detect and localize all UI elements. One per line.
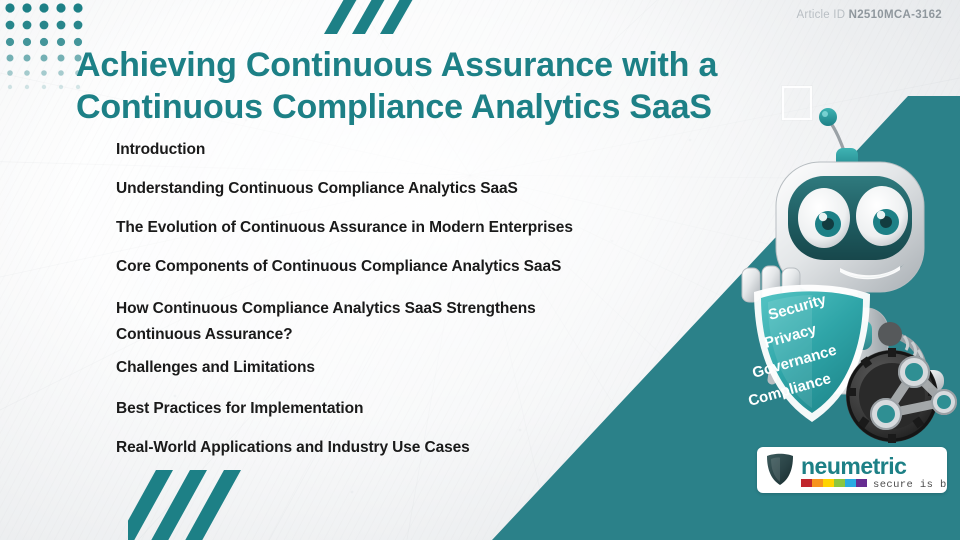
list-item[interactable]: Real-World Applications and Industry Use… xyxy=(116,438,716,458)
title-line-2: Continuous Compliance Analytics SaaS xyxy=(76,86,796,128)
logo-color-bar xyxy=(801,479,867,487)
table-of-contents: Introduction Understanding Continuous Co… xyxy=(116,140,716,477)
article-id-label: Article ID xyxy=(797,9,846,21)
list-item[interactable]: Core Components of Continuous Compliance… xyxy=(116,257,716,277)
list-item[interactable]: How Continuous Compliance Analytics SaaS… xyxy=(116,296,716,348)
shield-logo-icon xyxy=(767,454,793,485)
list-item[interactable]: Introduction xyxy=(116,140,716,160)
list-item[interactable]: Understanding Continuous Compliance Anal… xyxy=(116,179,716,199)
robot-wheel-icon xyxy=(846,348,956,443)
title-line-1: Achieving Continuous Assurance with a xyxy=(76,46,717,84)
page-title: Achieving Continuous Assurance with a Co… xyxy=(76,44,796,128)
article-id-code: N2510MCA-3162 xyxy=(849,9,942,21)
logo-wordmark: neumetric xyxy=(801,453,907,479)
logo-tagline: secure is better xyxy=(873,479,947,491)
neumetric-logo[interactable]: neumetric secure is better xyxy=(757,447,947,493)
list-item[interactable]: The Evolution of Continuous Assurance in… xyxy=(116,218,716,238)
diagonal-stripes-top-icon xyxy=(322,0,438,40)
list-item[interactable]: Challenges and Limitations xyxy=(116,358,716,378)
robot-mascot-icon: Security Privacy Governance Compliance xyxy=(718,96,960,456)
presentation-slide: Article ID N2510MCA-3162 Achieving Conti… xyxy=(0,0,960,540)
article-id: Article ID N2510MCA-3162 xyxy=(797,9,942,21)
list-item[interactable]: Best Practices for Implementation xyxy=(116,399,716,419)
diagonal-stripes-bottom-icon xyxy=(128,468,256,540)
